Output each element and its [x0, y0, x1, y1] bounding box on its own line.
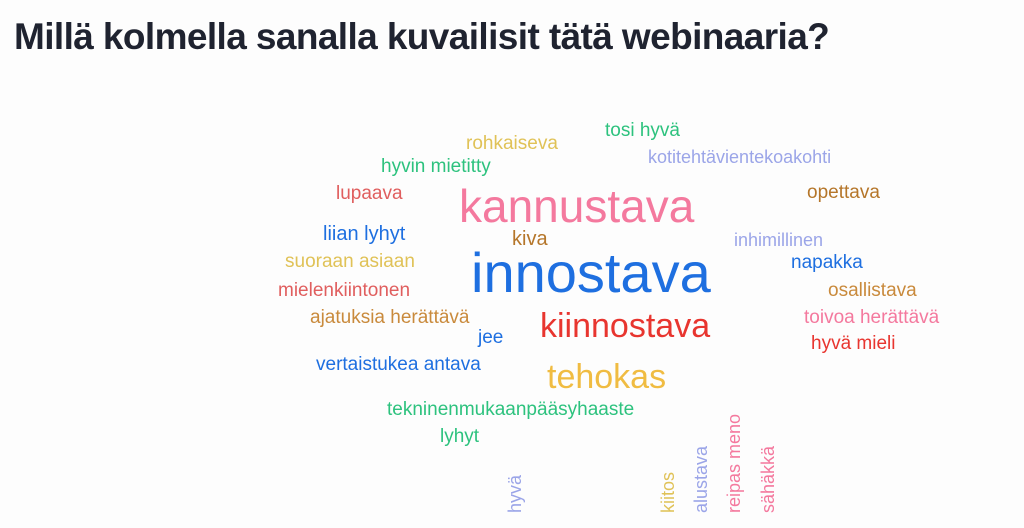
cloud-word: kotitehtävientekoakohti [648, 148, 831, 166]
cloud-word: lyhyt [440, 427, 479, 446]
cloud-word: rohkaiseva [466, 134, 558, 153]
cloud-word: tehokas [547, 360, 666, 394]
cloud-word: innostava [471, 245, 711, 301]
cloud-word: toivoa herättävä [804, 308, 939, 327]
cloud-word: napakka [791, 253, 863, 272]
cloud-word: reipas meno [725, 414, 743, 513]
cloud-word: hyvin mietitty [381, 157, 491, 176]
word-cloud: kannustavainnostavakiinnostavatehokasroh… [0, 0, 1024, 528]
wordcloud-page: Millä kolmella sanalla kuvailisit tätä w… [0, 0, 1024, 528]
cloud-word: suoraan asiaan [285, 252, 415, 271]
cloud-word: tosi hyvä [605, 121, 680, 140]
cloud-word: tekninenmukaanpääsyhaaste [387, 400, 634, 419]
cloud-word: opettava [807, 183, 880, 202]
cloud-word: kiva [512, 229, 548, 249]
cloud-word: sähäkkä [759, 446, 777, 513]
cloud-word: mielenkiintonen [278, 281, 410, 300]
cloud-word: lupaava [336, 184, 403, 203]
cloud-word: hyvä [506, 475, 524, 513]
cloud-word: kiitos [659, 472, 677, 513]
cloud-word: hyvä mieli [811, 334, 895, 353]
cloud-word: ajatuksia herättävä [310, 308, 470, 327]
cloud-word: alustava [692, 446, 710, 513]
cloud-word: vertaistukea antava [316, 355, 481, 374]
cloud-word: kannustava [459, 183, 694, 229]
cloud-word: kiinnostava [540, 309, 710, 343]
cloud-word: osallistava [828, 281, 917, 300]
cloud-word: jee [478, 328, 503, 347]
cloud-word: inhimillinen [734, 231, 823, 249]
cloud-word: liian lyhyt [323, 224, 405, 244]
